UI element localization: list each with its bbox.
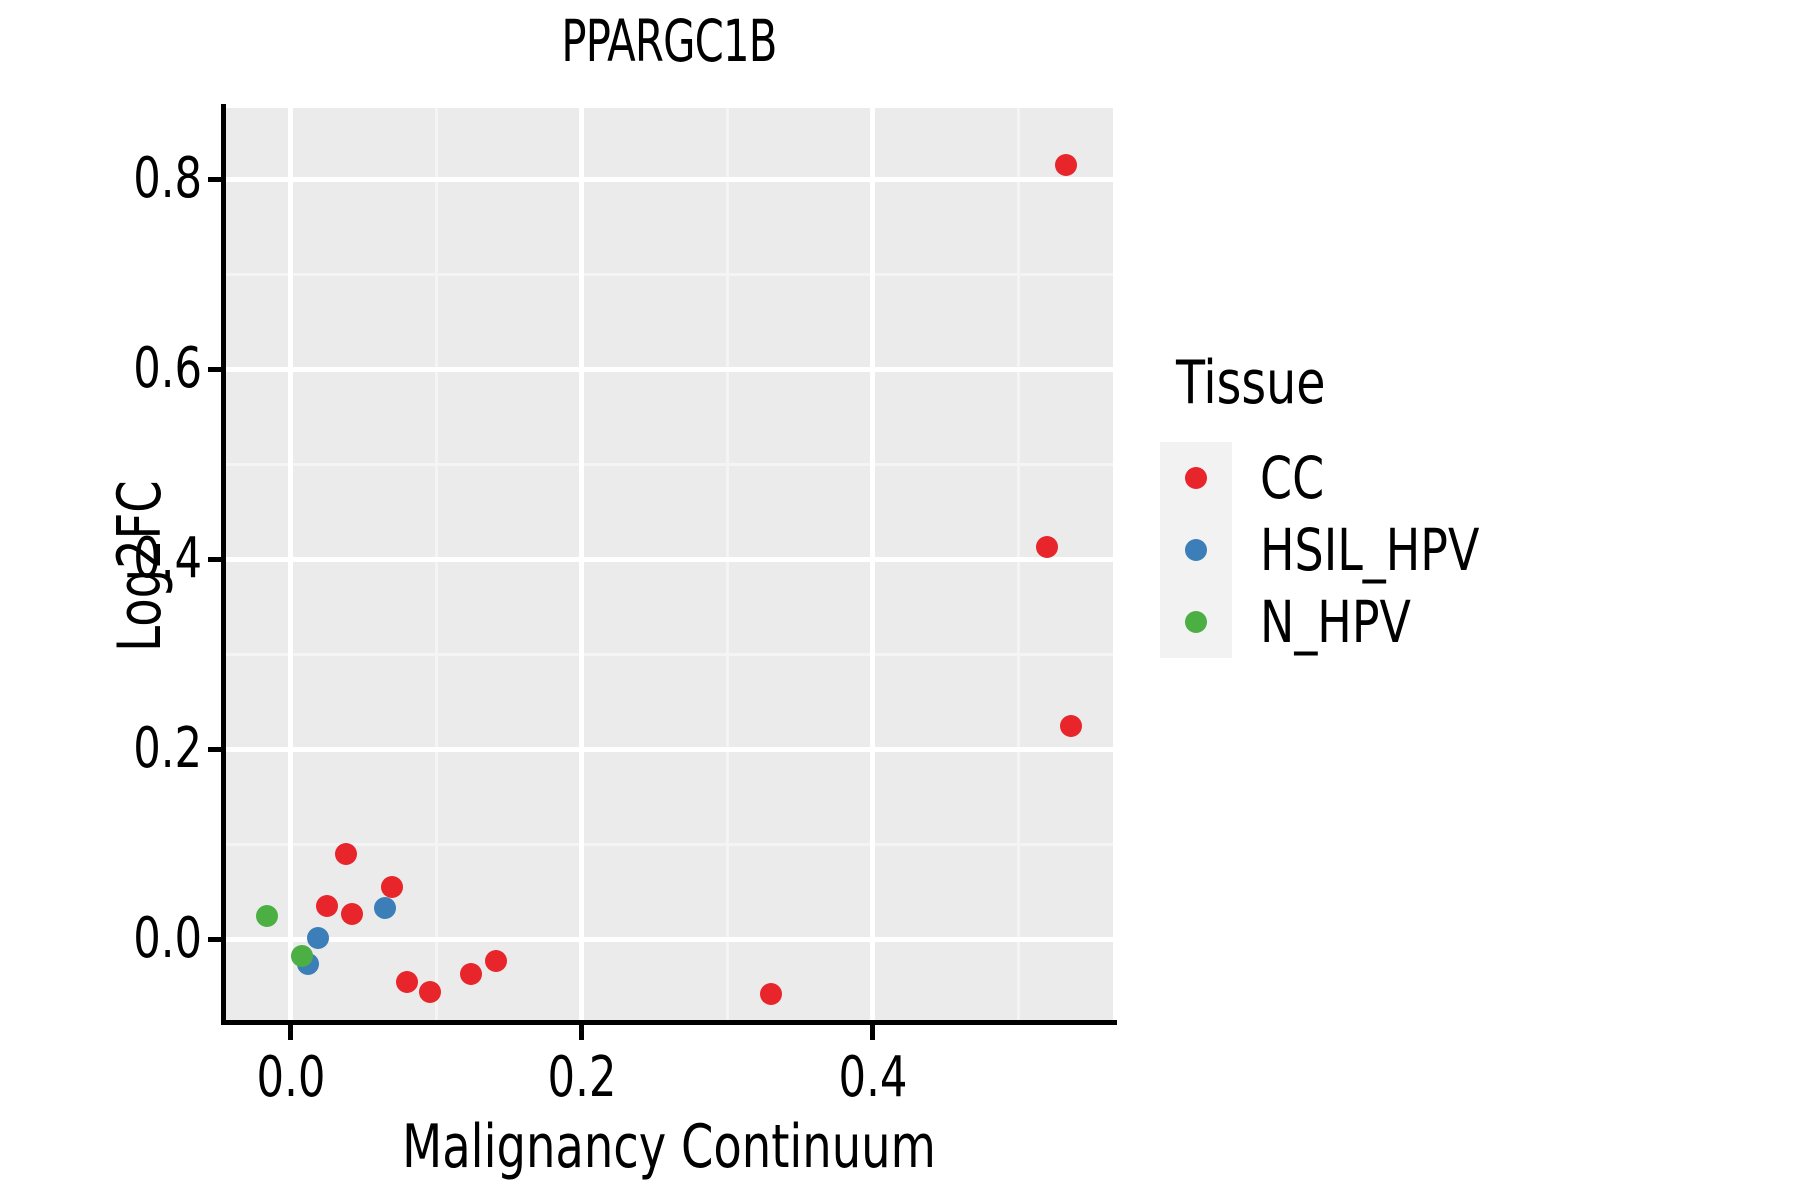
legend-key-swatch <box>1160 586 1232 658</box>
legend-item-n_hpv[interactable]: N_HPV <box>1160 586 1780 658</box>
legend-key-swatch <box>1160 514 1232 586</box>
legend-item-label: N_HPV <box>1260 592 1411 652</box>
data-point-cc <box>1036 536 1058 558</box>
data-point-cc <box>341 903 363 925</box>
legend-dot-icon <box>1185 467 1207 489</box>
x-axis-line <box>221 1020 1117 1025</box>
data-point-cc <box>335 843 357 865</box>
x-tick-label: 0.2 <box>496 1048 668 1108</box>
legend-items: CCHSIL_HPVN_HPV <box>1160 442 1780 658</box>
gridline-minor-x <box>1017 108 1020 1020</box>
x-tick-label: 0.0 <box>205 1048 377 1108</box>
y-axis-title: Log2FC <box>108 174 172 958</box>
data-point-cc <box>485 950 507 972</box>
legend-title: Tissue <box>1176 352 1708 414</box>
gridline-minor-y <box>225 843 1113 846</box>
data-point-cc <box>396 971 418 993</box>
x-tick-mark <box>870 1025 875 1040</box>
data-point-cc <box>381 876 403 898</box>
gridline-major-y <box>225 937 1113 942</box>
legend-dot-icon <box>1185 539 1207 561</box>
y-tick-mark <box>208 177 223 182</box>
data-point-cc <box>419 981 441 1003</box>
page-title: PPARGC1B <box>314 8 1024 74</box>
y-tick-mark <box>208 747 223 752</box>
y-tick-mark <box>208 367 223 372</box>
gridline-major-x <box>870 108 875 1020</box>
data-point-cc <box>316 895 338 917</box>
gridline-minor-y <box>225 653 1113 656</box>
legend-item-label: HSIL_HPV <box>1260 520 1479 580</box>
legend: Tissue CCHSIL_HPVN_HPV <box>1160 352 1780 658</box>
gridline-minor-x <box>726 108 729 1020</box>
gridline-major-y <box>225 557 1113 562</box>
legend-key-swatch <box>1160 442 1232 514</box>
plot-panel <box>225 108 1113 1020</box>
gridline-major-y <box>225 177 1113 182</box>
x-tick-label: 0.4 <box>787 1048 959 1108</box>
data-point-hsil_hpv <box>374 897 396 919</box>
gridline-minor-x <box>435 108 438 1020</box>
y-tick-mark <box>208 557 223 562</box>
x-tick-mark <box>288 1025 293 1040</box>
gridline-minor-y <box>225 463 1113 466</box>
data-point-cc <box>1055 154 1077 176</box>
gridline-major-x <box>579 108 584 1020</box>
y-axis-line <box>221 104 226 1024</box>
scatter-plot-figure: PPARGC1B 0.00.20.40.60.8 0.00.20.4 Malig… <box>0 0 1800 1200</box>
data-point-hsil_hpv <box>307 927 329 949</box>
data-point-cc <box>1060 715 1082 737</box>
x-tick-mark <box>579 1025 584 1040</box>
gridline-major-x <box>288 108 293 1020</box>
legend-item-cc[interactable]: CC <box>1160 442 1780 514</box>
gridline-minor-y <box>225 273 1113 276</box>
data-point-cc <box>460 963 482 985</box>
legend-item-label: CC <box>1260 448 1324 508</box>
legend-item-hsil_hpv[interactable]: HSIL_HPV <box>1160 514 1780 586</box>
gridline-major-y <box>225 367 1113 372</box>
data-point-cc <box>760 983 782 1005</box>
data-point-n_hpv <box>256 905 278 927</box>
legend-dot-icon <box>1185 611 1207 633</box>
gridline-major-y <box>225 747 1113 752</box>
y-tick-mark <box>208 937 223 942</box>
x-axis-title: Malignancy Continuum <box>287 1115 1051 1179</box>
